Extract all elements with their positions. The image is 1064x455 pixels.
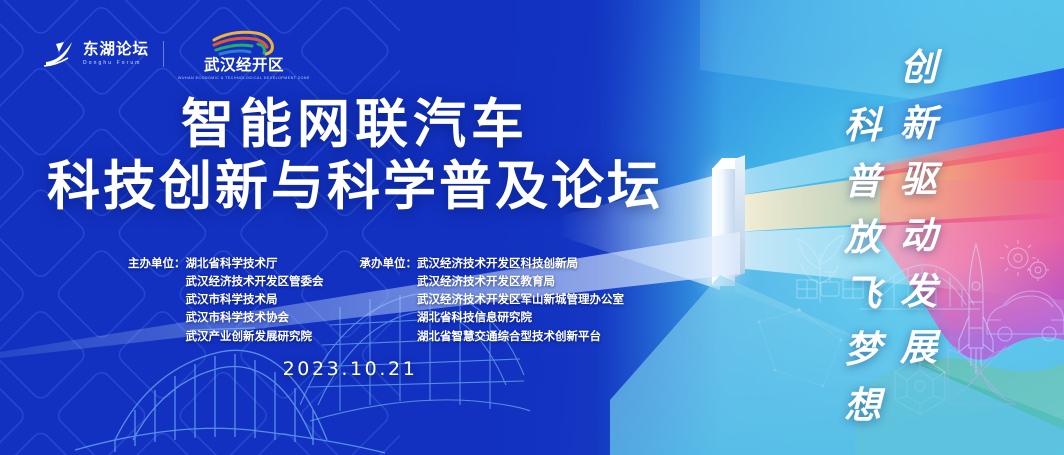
list-item: 武汉产业创新发展研究院 <box>186 328 324 346</box>
list-item: 湖北省科技信息研究院 <box>417 309 624 327</box>
prism-pillar <box>712 168 735 286</box>
logo-divider <box>163 41 164 67</box>
calligraphy-char: 想 <box>844 388 881 425</box>
host-list: 武汉经济技术开发区科技创新局 武汉经济技术开发区教育局 武汉经济技术开发区军山新… <box>417 255 624 346</box>
calligraphy-char: 动 <box>900 218 937 255</box>
calligraphy-block: 创 新 驱 动 发 展 科 普 放 飞 梦 想 <box>838 0 978 455</box>
calligraphy-left-column: 科 普 放 飞 梦 想 <box>844 108 881 444</box>
organizer-list: 湖北省科学技术厅 武汉经济技术开发区管委会 武汉市科学技术局 武汉市科学技术协会… <box>186 255 324 346</box>
wuhan-logo-cn: 武汉经开区 <box>204 58 284 74</box>
calligraphy-char: 驱 <box>900 162 937 199</box>
list-item: 武汉经济技术开发区科技创新局 <box>417 255 624 273</box>
list-item: 武汉市科学技术局 <box>186 291 324 309</box>
calligraphy-char: 新 <box>900 106 937 143</box>
logo-bar: 东湖论坛 Donghu Forum 武汉经开区 WUHAN ECONOMIC &… <box>42 28 310 80</box>
wuhan-zone-logo: 武汉经开区 WUHAN ECONOMIC & TECHNOLOGICAL DEV… <box>178 28 310 80</box>
donghu-swoosh-icon <box>42 38 76 70</box>
organizer-column: 主办单位： 湖北省科学技术厅 武汉经济技术开发区管委会 武汉市科学技术局 武汉市… <box>128 255 324 346</box>
list-item: 湖北省智慧交通综合型技术创新平台 <box>417 328 624 346</box>
list-item: 湖北省科学技术厅 <box>186 255 324 273</box>
organizer-label: 主办单位： <box>128 255 186 346</box>
calligraphy-char: 普 <box>844 164 881 201</box>
title-line-2: 科技创新与科学普及论坛 <box>0 157 710 216</box>
calligraphy-char: 展 <box>900 330 937 367</box>
host-label: 承办单位： <box>360 255 418 346</box>
donghu-logo-cn: 东湖论坛 <box>83 42 149 58</box>
list-item: 武汉市科学技术协会 <box>186 309 324 327</box>
calligraphy-char: 飞 <box>844 276 881 313</box>
calligraphy-char: 发 <box>900 274 937 311</box>
calligraphy-char: 科 <box>844 108 881 145</box>
title-line-1: 智能网联汽车 <box>0 96 710 153</box>
calligraphy-char: 创 <box>900 50 937 87</box>
calligraphy-right-column: 创 新 驱 动 发 展 <box>900 50 937 386</box>
list-item: 武汉经济技术开发区军山新城管理办公室 <box>417 291 624 309</box>
conference-poster: 东湖论坛 Donghu Forum 武汉经开区 WUHAN ECONOMIC &… <box>0 0 1064 455</box>
calligraphy-char: 梦 <box>844 332 881 369</box>
event-date: 2023.10.21 <box>0 358 700 380</box>
donghu-logo-en: Donghu Forum <box>83 61 149 66</box>
list-item: 武汉经济技术开发区教育局 <box>417 273 624 291</box>
list-item: 武汉经济技术开发区管委会 <box>186 273 324 291</box>
credits-block: 主办单位： 湖北省科学技术厅 武汉经济技术开发区管委会 武汉市科学技术局 武汉市… <box>0 255 700 346</box>
donghu-forum-logo: 东湖论坛 Donghu Forum <box>42 38 149 70</box>
host-column: 承办单位： 武汉经济技术开发区科技创新局 武汉经济技术开发区教育局 武汉经济技术… <box>360 255 625 346</box>
rainbow-swoosh-icon <box>210 28 278 56</box>
calligraphy-char: 放 <box>844 220 881 257</box>
poster-title: 智能网联汽车 科技创新与科学普及论坛 <box>0 96 710 217</box>
wuhan-logo-en: WUHAN ECONOMIC & TECHNOLOGICAL DEVELOPME… <box>178 76 310 80</box>
